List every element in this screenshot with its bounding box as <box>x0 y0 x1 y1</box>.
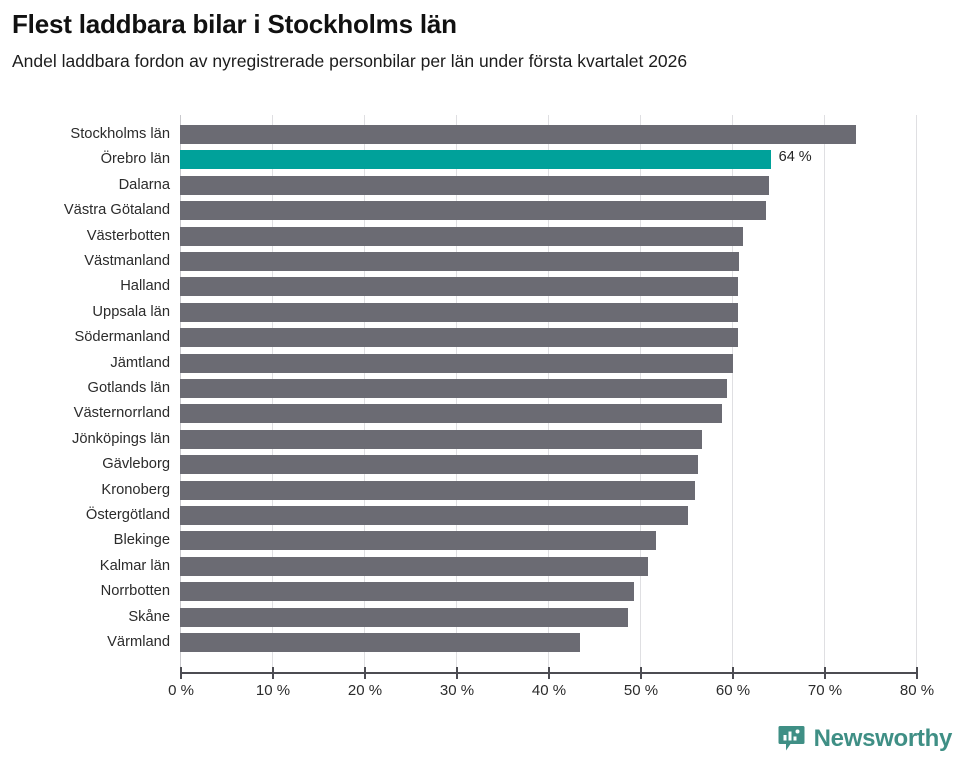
x-axis-label: 80 % <box>900 682 934 699</box>
bar[interactable] <box>180 481 695 500</box>
y-axis-label: Skåne <box>0 608 170 627</box>
y-axis-label: Jönköpings län <box>0 430 170 449</box>
x-axis-label: 20 % <box>348 682 382 699</box>
y-axis-label: Västerbotten <box>0 227 170 246</box>
x-axis-tick <box>824 667 826 679</box>
bar-row <box>180 608 916 627</box>
x-axis-label: 40 % <box>532 682 566 699</box>
bar[interactable] <box>180 277 738 296</box>
chart-header: Flest laddbara bilar i Stockholms län An… <box>0 0 960 72</box>
bar[interactable] <box>180 404 722 423</box>
y-axis-label: Kronoberg <box>0 481 170 500</box>
y-axis-label: Östergötland <box>0 506 170 525</box>
bar[interactable] <box>180 506 688 525</box>
y-axis-label: Halland <box>0 277 170 296</box>
bar[interactable] <box>180 227 743 246</box>
bar-row: 64 % <box>180 150 916 169</box>
bar[interactable] <box>180 582 634 601</box>
bar-row <box>180 227 916 246</box>
y-axis-label: Uppsala län <box>0 303 170 322</box>
bar-row <box>180 633 916 652</box>
y-axis-label: Kalmar län <box>0 557 170 576</box>
x-axis-label: 0 % <box>168 682 194 699</box>
bar[interactable] <box>180 252 739 271</box>
y-axis-label: Norrbotten <box>0 582 170 601</box>
page-title: Flest laddbara bilar i Stockholms län <box>12 10 948 40</box>
bar-chart-speech-bubble-icon <box>778 725 805 752</box>
bar[interactable] <box>180 303 738 322</box>
bar[interactable] <box>180 328 738 347</box>
y-axis-labels: Stockholms länÖrebro länDalarnaVästra Gö… <box>0 115 170 667</box>
bar-row <box>180 201 916 220</box>
y-axis-label: Jämtland <box>0 354 170 373</box>
bar[interactable] <box>180 430 702 449</box>
x-axis-tick <box>548 667 550 679</box>
bar[interactable] <box>180 455 698 474</box>
bar-row <box>180 481 916 500</box>
y-axis-label: Örebro län <box>0 150 170 169</box>
bar-row <box>180 125 916 144</box>
bar-row <box>180 252 916 271</box>
x-axis-label: 10 % <box>256 682 290 699</box>
logo-wordmark: Newsworthy <box>814 727 952 751</box>
chart-subtitle: Andel laddbara fordon av nyregistrerade … <box>12 51 948 72</box>
y-axis-label: Södermanland <box>0 328 170 347</box>
bar-row <box>180 430 916 449</box>
y-axis-label: Värmland <box>0 633 170 652</box>
bar-row <box>180 455 916 474</box>
newsworthy-logo: Newsworthy <box>778 725 952 752</box>
y-axis-label: Västra Götaland <box>0 201 170 220</box>
bar-row <box>180 404 916 423</box>
bar-row <box>180 277 916 296</box>
bar[interactable] <box>180 633 580 652</box>
bar-row <box>180 582 916 601</box>
bar[interactable] <box>180 201 766 220</box>
bar-row <box>180 303 916 322</box>
bar[interactable] <box>180 354 733 373</box>
bar-row <box>180 506 916 525</box>
bar[interactable] <box>180 379 727 398</box>
bar[interactable] <box>180 531 656 550</box>
bar[interactable] <box>180 125 856 144</box>
bar-series: 64 % <box>180 115 916 667</box>
gridline-80 <box>916 115 917 667</box>
x-axis-tick <box>272 667 274 679</box>
y-axis-label: Gävleborg <box>0 455 170 474</box>
y-axis-label: Blekinge <box>0 531 170 550</box>
bar[interactable] <box>180 557 648 576</box>
x-axis-tick <box>732 667 734 679</box>
x-axis-label: 70 % <box>808 682 842 699</box>
bar[interactable] <box>180 608 628 627</box>
x-axis-label: 50 % <box>624 682 658 699</box>
x-axis-label: 60 % <box>716 682 750 699</box>
x-axis-tick <box>916 667 918 679</box>
x-axis-tick <box>640 667 642 679</box>
bar-row <box>180 557 916 576</box>
bar-row <box>180 354 916 373</box>
y-axis-label: Stockholms län <box>0 125 170 144</box>
bar[interactable] <box>180 176 769 195</box>
bar-row <box>180 379 916 398</box>
bar-row <box>180 531 916 550</box>
bar-row <box>180 176 916 195</box>
x-axis-tick <box>364 667 366 679</box>
y-axis-label: Västmanland <box>0 252 170 271</box>
y-axis-label: Västernorrland <box>0 404 170 423</box>
x-axis-tick <box>180 667 182 679</box>
x-axis-tick <box>456 667 458 679</box>
bar[interactable] <box>180 150 771 169</box>
bar-value-label: 64 % <box>779 149 812 165</box>
x-axis-label: 30 % <box>440 682 474 699</box>
y-axis-label: Gotlands län <box>0 379 170 398</box>
bar-row <box>180 328 916 347</box>
y-axis-label: Dalarna <box>0 176 170 195</box>
plot-area: 64 % <box>180 115 916 667</box>
bar-chart: Stockholms länÖrebro länDalarnaVästra Gö… <box>0 112 960 712</box>
